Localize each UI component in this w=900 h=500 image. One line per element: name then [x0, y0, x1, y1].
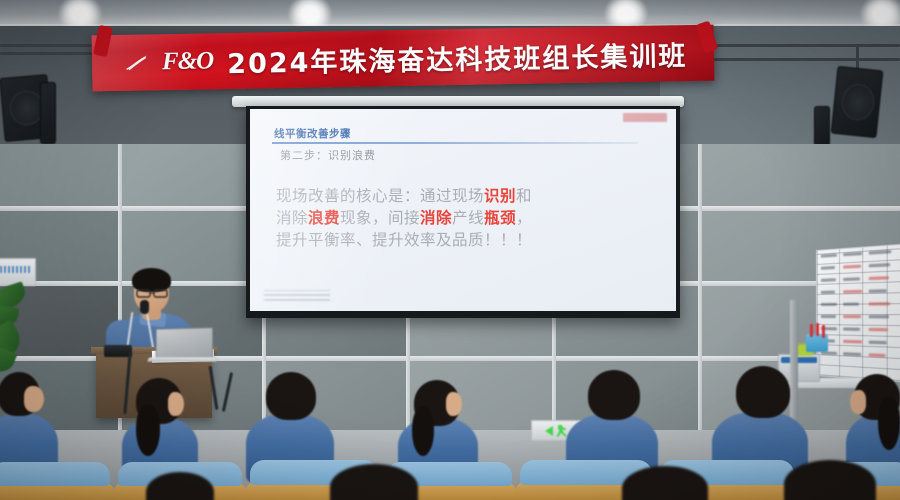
slide-text-segment: 现象，间接: [340, 209, 420, 227]
right-wall-speaker: [831, 66, 884, 138]
slide-body-line: 提升平衡率、提升效率及品质！！！: [276, 229, 656, 251]
wall-tile: [0, 144, 118, 206]
left-speaker-bracket: [40, 82, 56, 144]
ceiling: [0, 0, 900, 26]
presenter-glasses-icon: [136, 288, 170, 299]
whiteboard-writing-red: [843, 340, 862, 344]
slide-title: 线平衡改善步骤: [274, 126, 351, 141]
slide-keyword-highlight: 消除: [420, 209, 452, 227]
wall-tile: [702, 144, 900, 206]
whiteboard-writing-red: [869, 302, 890, 305]
breaker-switches: [0, 266, 32, 273]
whiteboard-writing: [821, 291, 835, 294]
exit-arrow-icon: [545, 426, 553, 436]
attendee-face: [850, 390, 866, 414]
whiteboard-writing: [843, 303, 859, 306]
attendee-head: [266, 372, 316, 420]
attendee-ponytail: [136, 404, 160, 456]
equipment-display: [781, 357, 817, 363]
presenter-headset-mic-icon: [140, 300, 149, 314]
red-marker: [822, 325, 825, 338]
whiteboard-writing-red: [843, 290, 862, 294]
event-banner: F&O 2024年珠海奋达科技班组长集训班: [92, 25, 715, 92]
conduit-pipe: [714, 58, 900, 61]
slide-body-line: 现场改善的核心是：通过现场识别和: [276, 185, 656, 207]
slide-subtitle: 第二步：识别浪费: [280, 147, 376, 163]
conduit-pipe: [714, 44, 900, 47]
slide-keyword-highlight: 识别: [484, 187, 516, 205]
slide-footer-text: [264, 290, 330, 301]
projector-screen: 线平衡改善步骤 第二步：识别浪费 现场改善的核心是：通过现场识别和消除浪费现象，…: [246, 106, 680, 318]
wall-tile: [122, 144, 262, 206]
slide-text-segment: 消除: [276, 209, 308, 227]
slide-text-segment: ，: [516, 209, 532, 227]
classroom-photo: F&O 2024年珠海奋达科技班组长集训班: [0, 0, 900, 500]
presentation-slide: 线平衡改善步骤 第二步：识别浪费 现场改善的核心是：通过现场识别和消除浪费现象，…: [250, 109, 676, 311]
red-marker: [810, 324, 813, 337]
speaker-cone: [840, 82, 876, 121]
slide-title-underline: [272, 142, 638, 144]
attendee-face: [24, 386, 44, 412]
wall-grout: [698, 144, 702, 434]
slide-text-segment: 和: [516, 187, 532, 205]
presenter-laptop: [150, 328, 214, 362]
banner-title: 2024年珠海奋达科技班组长集训班: [227, 34, 688, 81]
laptop-keyboard-base: [147, 357, 217, 361]
whiteboard-writing: [821, 303, 837, 306]
slide-keyword-highlight: 瓶颈: [484, 209, 516, 227]
slide-body-text: 现场改善的核心是：通过现场识别和消除浪费现象，间接消除产线瓶颈，提升平衡率、提升…: [276, 185, 656, 251]
red-marker: [816, 323, 819, 336]
attendee-ponytail: [412, 406, 434, 456]
attendee-head: [784, 460, 876, 500]
whiteboard: [816, 243, 900, 382]
attendee-head: [736, 366, 790, 418]
whiteboard-writing: [843, 327, 860, 330]
whiteboard-writing: [869, 289, 887, 293]
attendee-face: [446, 392, 462, 416]
slide-keyword-highlight: 浪费: [308, 209, 340, 227]
slide-text-segment: 产线: [452, 209, 484, 227]
whiteboard-writing-red: [869, 328, 888, 332]
whiteboard-writing: [821, 278, 836, 282]
banner-logo-text: F&O: [162, 47, 214, 76]
chair: [0, 462, 110, 500]
fando-swoosh-icon: [124, 53, 150, 71]
attendee-ponytail: [878, 396, 900, 450]
chair-cushion: [0, 462, 110, 486]
whiteboard-writing-red: [843, 315, 861, 318]
slide-watermark-logo: [623, 113, 667, 122]
slide-text-segment: 现场改善的核心是：通过现场: [276, 187, 484, 205]
whiteboard-writing: [843, 277, 860, 281]
slide-text-segment: 提升平衡率、提升效率及品质！！！: [276, 231, 532, 249]
whiteboard-writing: [821, 315, 836, 318]
slide-body-line: 消除浪费现象，间接消除产线瓶颈，: [276, 207, 656, 229]
attendee-head: [588, 370, 640, 420]
whiteboard-writing: [869, 315, 889, 318]
laptop-lid: [156, 327, 213, 361]
vertical-post: [790, 300, 798, 430]
attendee-face: [168, 392, 184, 416]
whiteboard-writing: [869, 341, 887, 345]
right-speaker-bracket: [814, 106, 830, 146]
